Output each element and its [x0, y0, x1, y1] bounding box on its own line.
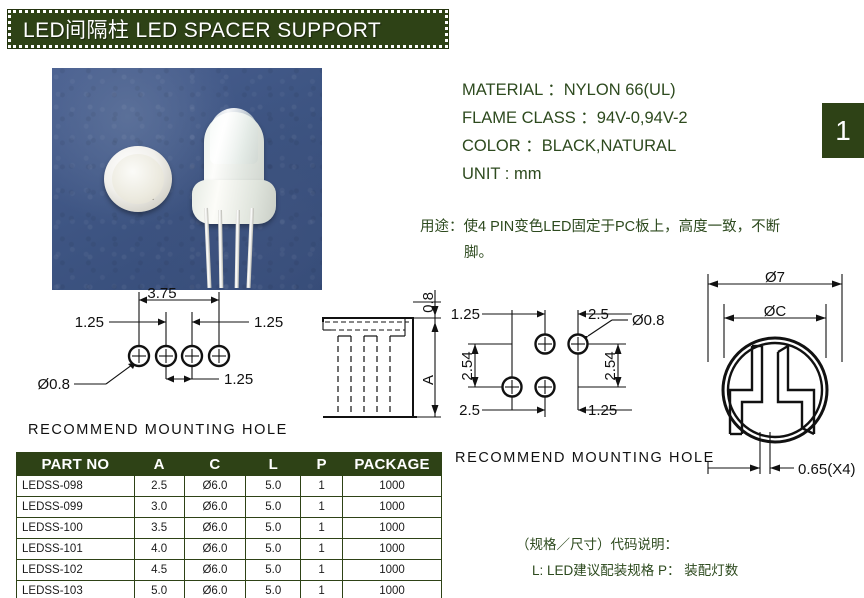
cell-a: 4.5	[134, 560, 184, 581]
cell-part-no: LEDSS-103	[17, 581, 135, 598]
cell-a: 4.0	[134, 539, 184, 560]
drawing-mounting-hole-staggered: 1.25 2.5 2.5 1.25 2.54 2.54 Ø0.8	[450, 292, 700, 432]
spacer-slot	[144, 162, 150, 182]
caption-mounting-hole-inline: RECOMMEND MOUNTING HOLE	[28, 422, 288, 438]
cell-p: 1	[301, 476, 343, 497]
spec-color: COLOR ：BLACK,NATURAL	[462, 132, 688, 160]
cell-a: 3.0	[134, 497, 184, 518]
cell-l: 5.0	[246, 518, 301, 539]
cell-c: Ø6.0	[184, 539, 246, 560]
cell-l: 5.0	[246, 476, 301, 497]
cell-a: 2.5	[134, 476, 184, 497]
cell-p: 1	[301, 581, 343, 598]
drawing-top-view: Ø7 ØC 0.65(X4)	[690, 262, 864, 490]
dim-a-vertical: A	[420, 375, 437, 385]
datasheet-page: LED间隔柱 LED SPACER SUPPORT 1 MATERIAL ：NY…	[0, 0, 864, 598]
table-header-row: PART NO A C L P PACKAGE	[17, 453, 442, 476]
spacer-top-view-photo	[104, 146, 172, 212]
cell-c: Ø6.0	[184, 518, 246, 539]
cell-l: 5.0	[246, 539, 301, 560]
cell-c: Ø6.0	[184, 476, 246, 497]
cell-p: 1	[301, 560, 343, 581]
page-number-badge: 1	[822, 103, 864, 158]
dim-0-8-vertical: 0.8	[420, 292, 437, 313]
specification-block: MATERIAL ：NYLON 66(UL) FLAME CLASS ：94V-…	[462, 76, 688, 188]
cell-a: 5.0	[134, 581, 184, 598]
cell-l: 5.0	[246, 581, 301, 598]
table-row: LEDSS-100 3.5 Ø6.0 5.0 1 1000	[17, 518, 442, 539]
cell-part-no: LEDSS-099	[17, 497, 135, 518]
cell-c: Ø6.0	[184, 497, 246, 518]
cell-package: 1000	[343, 581, 442, 598]
table-row: LEDSS-102 4.5 Ø6.0 5.0 1 1000	[17, 560, 442, 581]
cell-l: 5.0	[246, 560, 301, 581]
dim-top-right-2-5: 2.5	[588, 306, 609, 323]
table-row: LEDSS-103 5.0 Ø6.0 5.0 1 1000	[17, 581, 442, 598]
table-row: LEDSS-099 3.0 Ø6.0 5.0 1 1000	[17, 497, 442, 518]
dim-bottom-right-1-25: 1.25	[588, 402, 617, 419]
caption-mounting-hole-staggered: RECOMMEND MOUNTING HOLE	[455, 450, 715, 466]
cell-package: 1000	[343, 497, 442, 518]
cell-part-no: LEDSS-102	[17, 560, 135, 581]
parts-table: PART NO A C L P PACKAGE LEDSS-098 2.5 Ø6…	[16, 452, 442, 598]
cell-package: 1000	[343, 539, 442, 560]
code-legend: （规格／尺寸）代码说明： L: LED建议配装规格 P： 装配灯数	[516, 532, 738, 584]
spacer-cross-bar	[120, 176, 158, 181]
dim-3-75: 3.75	[147, 285, 176, 302]
cell-a: 3.5	[134, 518, 184, 539]
cell-l: 5.0	[246, 497, 301, 518]
cell-c: Ø6.0	[184, 581, 246, 598]
cell-package: 1000	[343, 476, 442, 497]
table-row: LEDSS-101 4.0 Ø6.0 5.0 1 1000	[17, 539, 442, 560]
header-banner: LED间隔柱 LED SPACER SUPPORT	[8, 10, 448, 48]
dim-outer-dia: Ø7	[765, 269, 785, 286]
header-part-no: PART NO	[17, 453, 135, 476]
spec-unit: UNIT : mm	[462, 160, 688, 188]
dim-slot-width: 0.65(X4)	[798, 461, 856, 478]
cell-part-no: LEDSS-101	[17, 539, 135, 560]
spec-flame-class: FLAME CLASS ：94V-0,94V-2	[462, 104, 688, 132]
page-title: LED间隔柱 LED SPACER SUPPORT	[11, 14, 381, 44]
spacer-slot	[148, 182, 154, 200]
cell-package: 1000	[343, 560, 442, 581]
dim-inner-dia: ØC	[764, 303, 787, 320]
dim-bottom-left-2-5: 2.5	[459, 402, 480, 419]
header-p: P	[301, 453, 343, 476]
usage-line-1: 用途：使4 PIN变色LED固定于PC板上，高度一致，不断	[420, 214, 850, 240]
photo-texture	[52, 68, 322, 290]
dim-left-1-25: 1.25	[75, 314, 104, 331]
cell-part-no: LEDSS-100	[17, 518, 135, 539]
dim-hole-dia: Ø0.8	[37, 376, 70, 393]
led-dome-photo	[210, 108, 258, 164]
dim-right-2-54: 2.54	[602, 351, 619, 380]
cell-p: 1	[301, 497, 343, 518]
cell-c: Ø6.0	[184, 560, 246, 581]
spacer-slot	[128, 162, 134, 182]
header-package: PACKAGE	[343, 453, 442, 476]
dim-top-left-1-25: 1.25	[451, 306, 480, 323]
cell-part-no: LEDSS-098	[17, 476, 135, 497]
dim-left-2-54: 2.54	[459, 351, 476, 380]
product-photo	[52, 68, 322, 290]
dim-hole-dia: Ø0.8	[632, 312, 665, 329]
header-l: L	[246, 453, 301, 476]
dim-right-1-25: 1.25	[254, 314, 283, 331]
cell-p: 1	[301, 518, 343, 539]
usage-note: 用途：使4 PIN变色LED固定于PC板上，高度一致，不断 脚。	[420, 214, 850, 266]
drawing-mounting-hole-inline: 3.75 1.25 1.25 1.25 Ø0.8	[14, 284, 304, 409]
header-c: C	[184, 453, 246, 476]
cell-p: 1	[301, 539, 343, 560]
legend-line-2: L: LED建议配装规格 P： 装配灯数	[516, 558, 738, 584]
spacer-slot	[124, 182, 130, 200]
table-row: LEDSS-098 2.5 Ø6.0 5.0 1 1000	[17, 476, 442, 497]
spec-material: MATERIAL ：NYLON 66(UL)	[462, 76, 688, 104]
cell-package: 1000	[343, 518, 442, 539]
legend-line-1: （规格／尺寸）代码说明：	[516, 532, 738, 558]
drawing-side-section: 0.8 A	[305, 272, 455, 437]
header-a: A	[134, 453, 184, 476]
dim-center-1-25: 1.25	[224, 371, 253, 388]
